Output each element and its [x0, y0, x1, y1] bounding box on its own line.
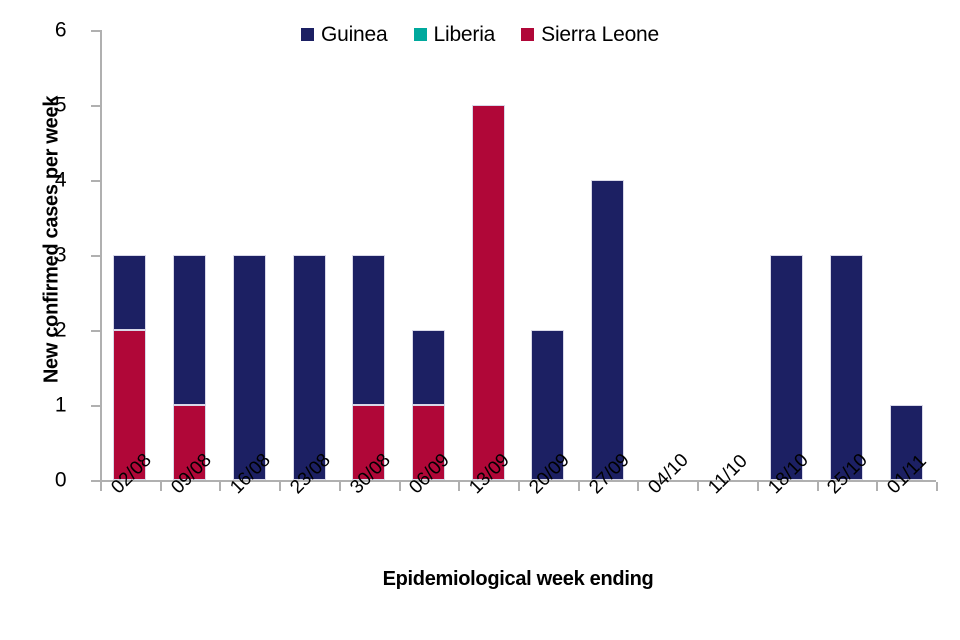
- bar-segment-guinea[interactable]: [591, 180, 624, 480]
- y-tick-label-0: 0: [55, 470, 67, 491]
- y-tick-label-1: 1: [55, 395, 67, 416]
- y-tick-0: [91, 480, 100, 482]
- bar-group[interactable]: [412, 30, 445, 480]
- bar-group[interactable]: [173, 30, 206, 480]
- bar-segment-guinea[interactable]: [770, 255, 803, 480]
- bar-group[interactable]: [830, 30, 863, 480]
- bar-segment-guinea[interactable]: [173, 255, 206, 405]
- bar-segment-guinea[interactable]: [233, 255, 266, 480]
- bar-group[interactable]: [591, 30, 624, 480]
- bar-group[interactable]: [890, 30, 923, 480]
- x-axis-title: Epidemiological week ending: [100, 568, 936, 591]
- bar-group[interactable]: [352, 30, 385, 480]
- bar-segment-sierra-leone[interactable]: [472, 105, 505, 480]
- y-tick-3: [91, 255, 100, 257]
- bar-group[interactable]: [233, 30, 266, 480]
- y-tick-5: [91, 105, 100, 107]
- bar-segment-guinea[interactable]: [830, 255, 863, 480]
- y-tick-label-3: 3: [55, 245, 67, 266]
- bar-group[interactable]: [770, 30, 803, 480]
- bar-group[interactable]: [651, 30, 684, 480]
- bar-series-container: [100, 30, 936, 480]
- bar-segment-guinea[interactable]: [412, 330, 445, 405]
- y-tick-label-4: 4: [55, 170, 67, 191]
- y-tick-1: [91, 405, 100, 407]
- y-tick-label-5: 5: [55, 95, 67, 116]
- y-tick-2: [91, 330, 100, 332]
- bar-segment-guinea[interactable]: [352, 255, 385, 405]
- bar-group[interactable]: [531, 30, 564, 480]
- bar-segment-guinea[interactable]: [293, 255, 326, 480]
- x-axis-tick-labels: 02/0809/0816/0823/0830/0806/0913/0920/09…: [100, 484, 936, 564]
- x-tick-end: [936, 482, 938, 491]
- bar-group[interactable]: [711, 30, 744, 480]
- bar-group[interactable]: [472, 30, 505, 480]
- y-tick-label-6: 6: [55, 20, 67, 41]
- y-tick-label-2: 2: [55, 320, 67, 341]
- plot-area: 0123456: [100, 30, 936, 480]
- bar-group[interactable]: [113, 30, 146, 480]
- y-tick-6: [91, 30, 100, 32]
- bar-group[interactable]: [293, 30, 326, 480]
- y-tick-4: [91, 180, 100, 182]
- bar-segment-guinea[interactable]: [113, 255, 146, 330]
- ebola-weekly-cases-chart: Guinea Liberia Sierra Leone New confirme…: [0, 0, 960, 640]
